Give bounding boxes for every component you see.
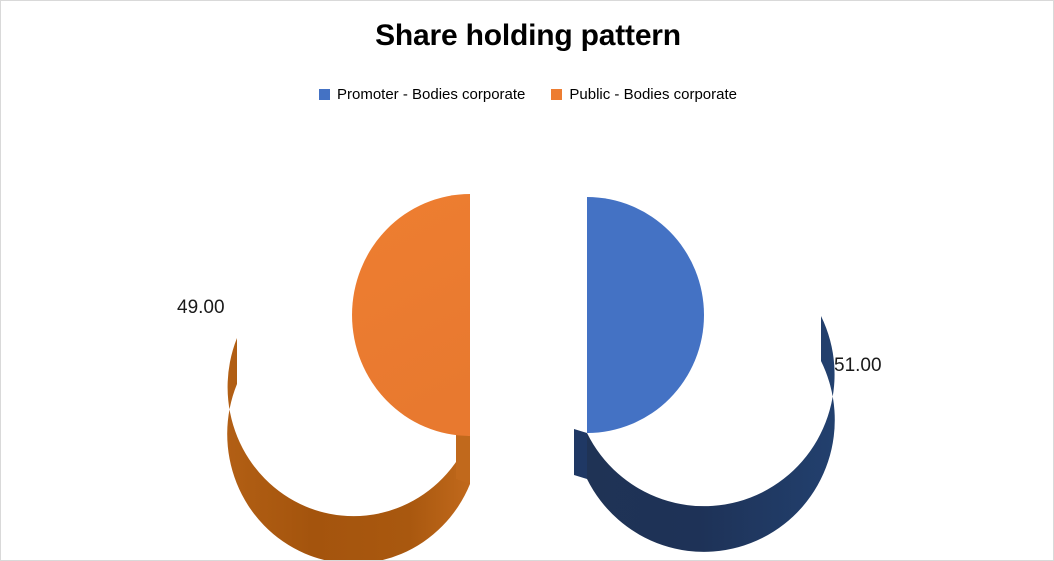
pie-slice-promoter-cut-face xyxy=(574,429,587,479)
pie-slice-public-top xyxy=(352,194,470,436)
pie-chart-plot-area xyxy=(1,1,1054,561)
data-label-promoter: 51.00 xyxy=(834,355,882,377)
data-label-public: 49.00 xyxy=(177,297,225,319)
chart-container: Share holding pattern Promoter - Bodies … xyxy=(0,0,1054,561)
pie-slice-promoter-top xyxy=(587,197,704,433)
pie-slice-public[interactable] xyxy=(227,194,470,561)
pie-slice-promoter[interactable] xyxy=(574,197,835,552)
pie-slice-public-cut-face xyxy=(456,433,470,484)
